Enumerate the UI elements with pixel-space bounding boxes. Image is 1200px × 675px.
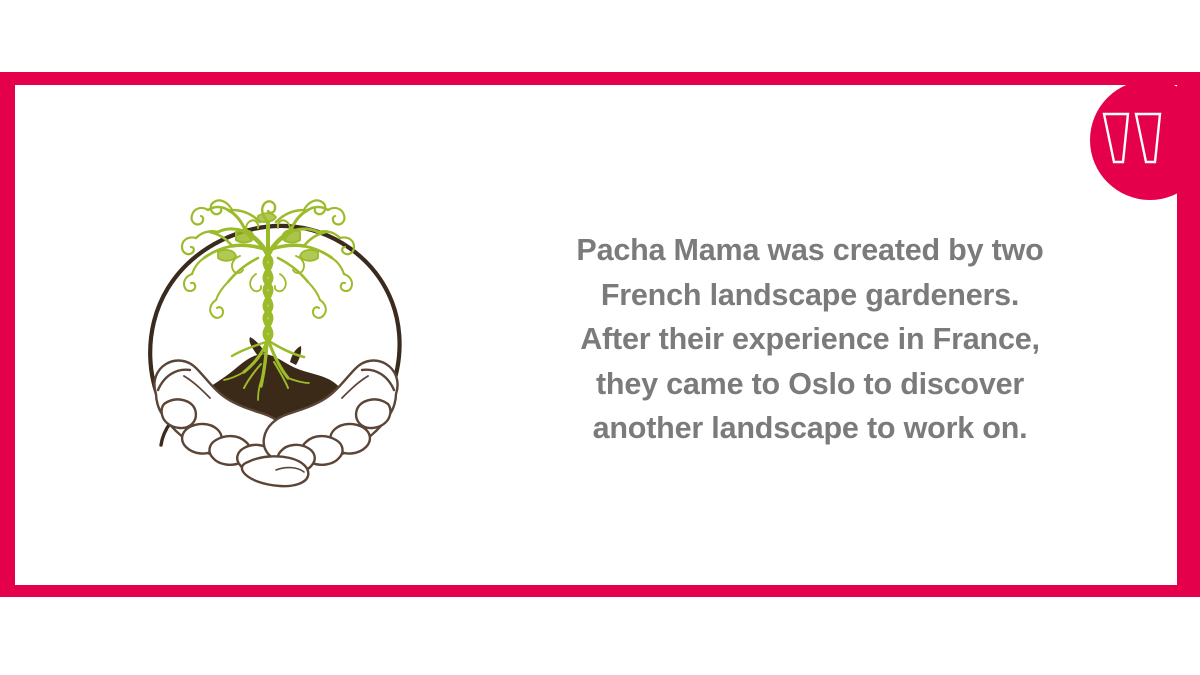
quote-line-3: After their experience in France, (520, 317, 1100, 362)
quote-line-5: another landscape to work on. (520, 406, 1100, 451)
quote-line-4: they came to Oslo to discover (520, 362, 1100, 407)
quotation-mark-icon (1102, 112, 1164, 164)
quote-line-2: French landscape gardeners. (520, 273, 1100, 318)
tree-trunk (265, 256, 271, 340)
quote-text: Pacha Mama was created by two French lan… (520, 228, 1100, 451)
slide-canvas: Pacha Mama was created by two French lan… (0, 0, 1200, 675)
quote-line-1: Pacha Mama was created by two (520, 228, 1100, 273)
tree-in-cupped-hands-logo (140, 190, 412, 490)
